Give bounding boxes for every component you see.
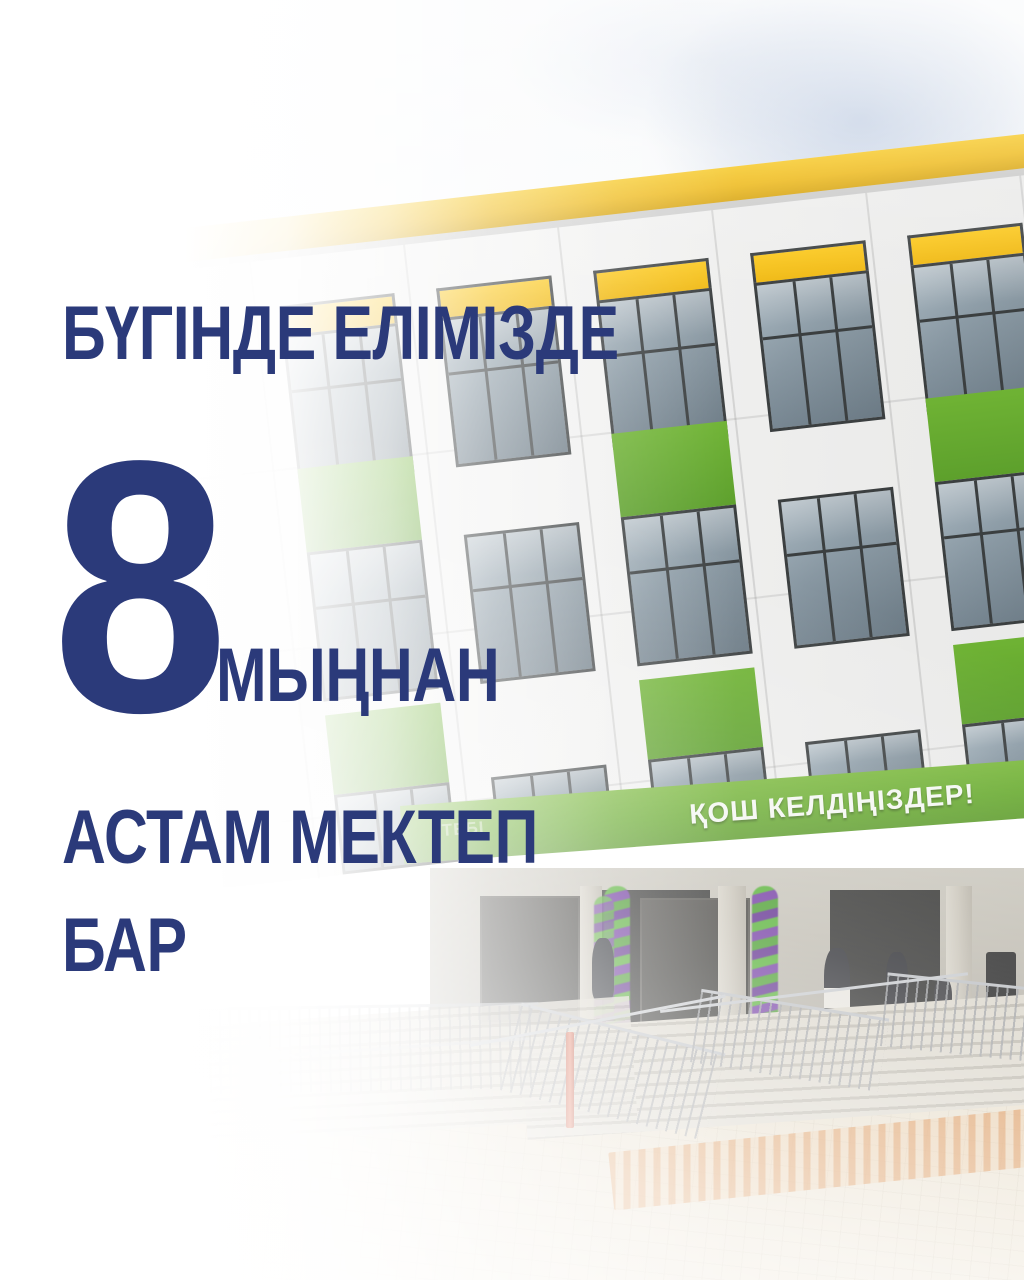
window-glass [439,305,571,467]
green-accent-panel [611,421,736,517]
window-glass [778,487,910,649]
window [621,504,753,666]
window-glass [753,270,885,432]
window [750,240,885,432]
window [593,258,728,450]
window [464,522,596,684]
window [307,540,439,702]
green-accent-panel [953,632,1024,724]
window [935,469,1024,631]
window-glass [464,522,596,684]
green-accent-panel [325,703,449,795]
window [778,487,910,649]
poster-canvas: ТЕБІ ҚОШ КЕЛДІҢІЗДЕР! БҮГІНДЕ ЕЛІМІЗДЕ 8… [0,0,1024,1280]
window [436,276,571,468]
green-accent-panel [639,667,763,759]
window [907,223,1024,415]
window [279,293,414,485]
faded-school-sign-text: ТЕБІ [441,818,485,841]
school-photograph: ТЕБІ ҚОШ КЕЛДІҢІЗДЕР! [0,0,1024,1280]
stair-railing [880,972,1024,1061]
green-accent-panel [925,386,1024,482]
red-bollard [566,1032,574,1128]
window-glass [935,469,1024,631]
green-accent-panel [297,456,422,552]
welcome-banner-text: ҚОШ КЕЛДІҢІЗДЕР! [688,778,976,831]
person-figure [592,938,614,1000]
window-glass [307,540,439,702]
window-glass [621,504,753,666]
